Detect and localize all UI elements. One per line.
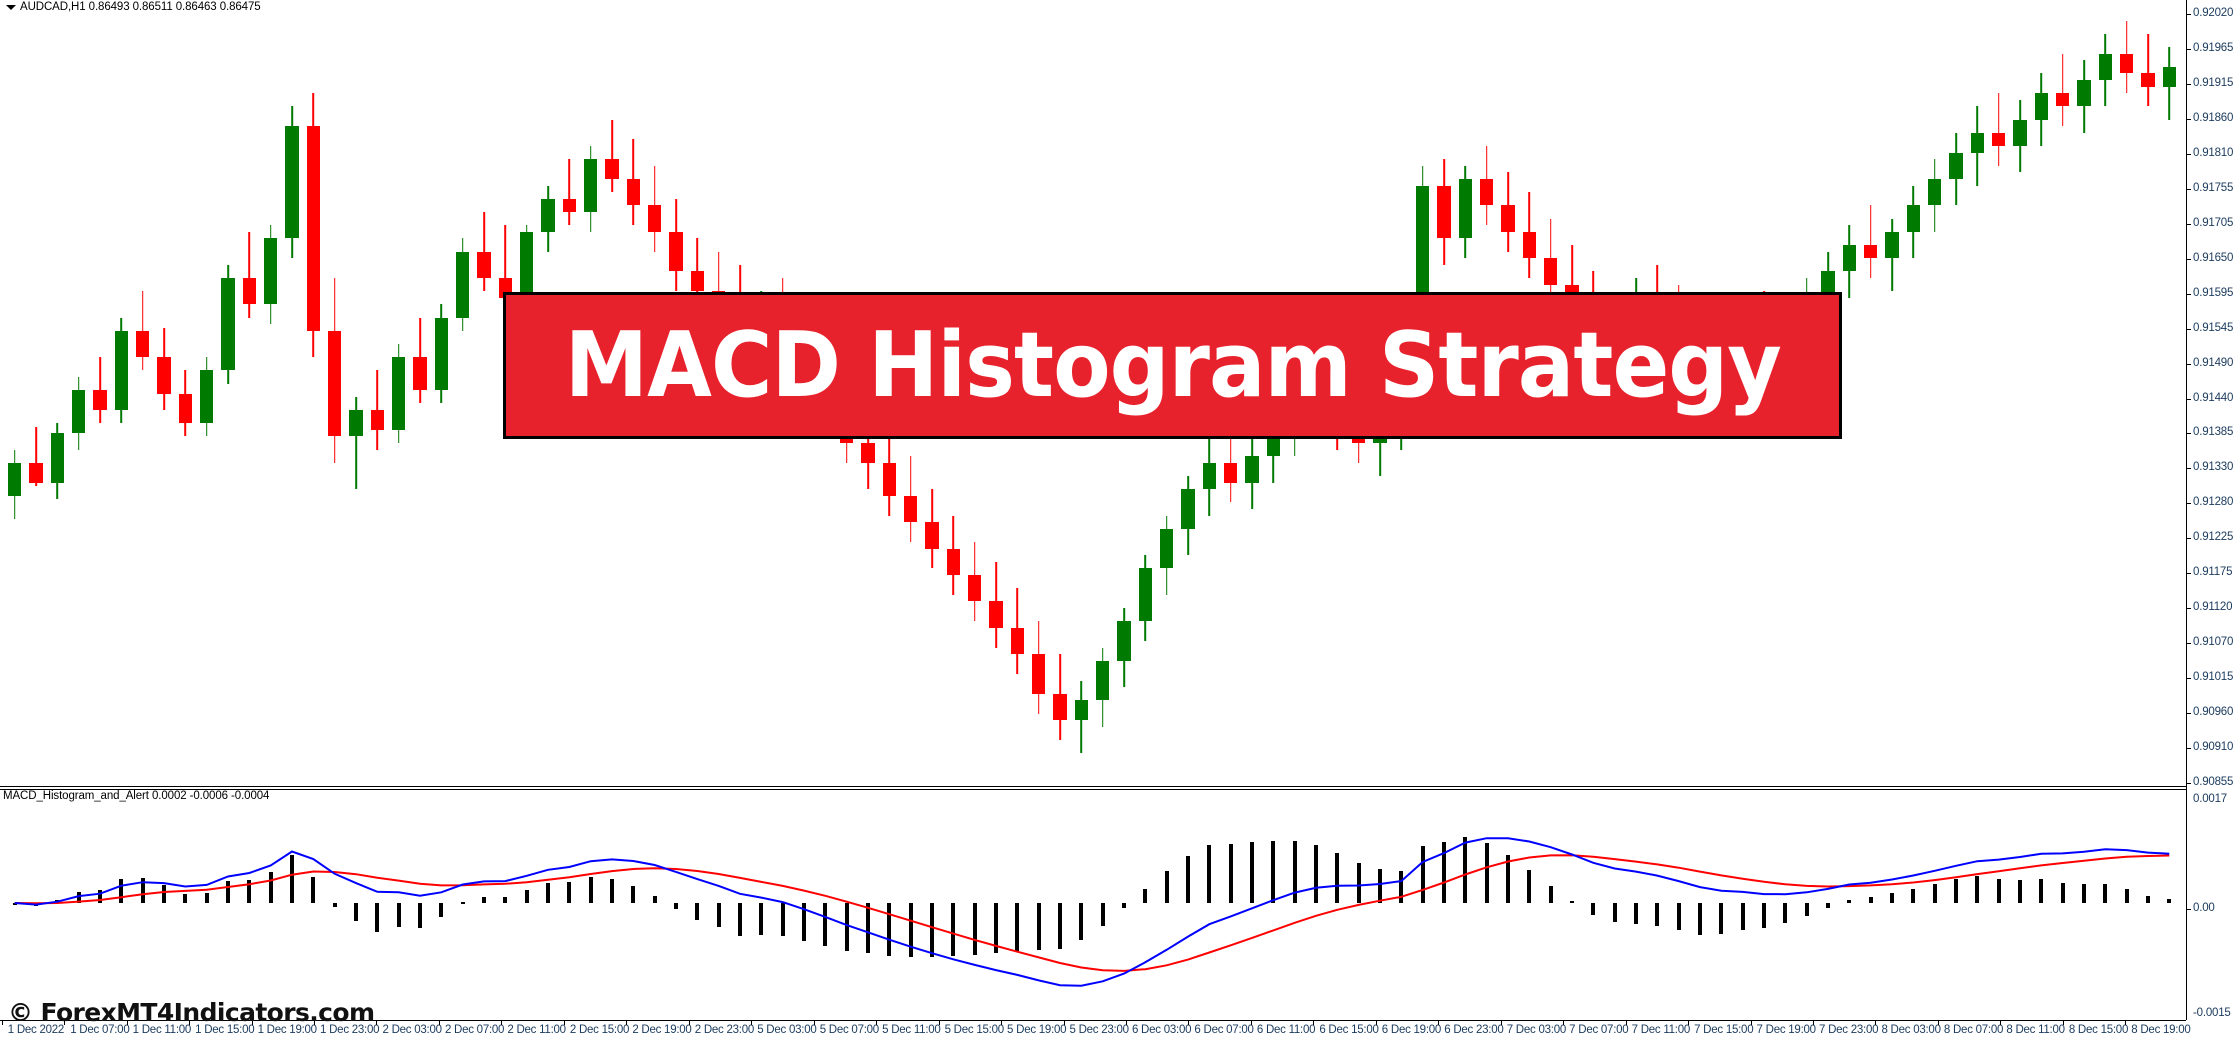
price-label: 0.91545	[2193, 323, 2233, 334]
candle-body	[371, 410, 384, 430]
price-tick	[2186, 573, 2191, 574]
time-tick	[127, 1021, 128, 1025]
time-tick	[1064, 1021, 1065, 1025]
candle-body	[605, 159, 618, 179]
time-label: 5 Dec 15:00	[945, 1024, 1004, 1036]
time-tick	[2125, 1021, 2126, 1025]
macd-axis-label: -0.0015	[2193, 1008, 2231, 1019]
price-tick	[2186, 678, 2191, 679]
time-label: 8 Dec 15:00	[2069, 1024, 2128, 1036]
time-tick	[252, 1021, 253, 1025]
time-label: 5 Dec 03:00	[757, 1024, 816, 1036]
panel-separator-top	[0, 786, 2186, 787]
time-label: 8 Dec 03:00	[1881, 1024, 1940, 1036]
candle-body	[264, 238, 277, 304]
time-label: 7 Dec 07:00	[1569, 1024, 1628, 1036]
candlestick	[435, 0, 448, 786]
time-tick	[751, 1021, 752, 1025]
candle-body	[435, 318, 448, 391]
time-tick	[1376, 1021, 1377, 1025]
candle-body	[1544, 258, 1557, 284]
macd-axis-label: 0.00	[2193, 903, 2215, 914]
candlestick	[72, 0, 85, 786]
time-tick	[1563, 1021, 1564, 1025]
price-label: 0.91120	[2193, 602, 2232, 613]
candle-body	[904, 496, 917, 522]
candle-wick	[2147, 34, 2149, 107]
price-tick	[2186, 433, 2191, 434]
candlestick	[1928, 0, 1941, 786]
time-label: 6 Dec 23:00	[1444, 1024, 1503, 1036]
candlestick	[1843, 0, 1856, 786]
candlestick	[179, 0, 192, 786]
candle-body	[1245, 456, 1258, 482]
candle-body	[1885, 232, 1898, 258]
candlestick	[243, 0, 256, 786]
price-tick	[2186, 224, 2191, 225]
macd-line	[15, 838, 2170, 986]
macd-axis-label: 0.0017	[2193, 794, 2227, 805]
candlestick	[2056, 0, 2069, 786]
time-tick	[1313, 1021, 1314, 1025]
candlestick	[413, 0, 426, 786]
price-label: 0.91175	[2193, 567, 2232, 578]
candlestick	[1885, 0, 1898, 786]
candle-body	[1480, 179, 1493, 205]
time-tick	[939, 1021, 940, 1025]
time-tick	[439, 1021, 440, 1025]
price-tick	[2186, 49, 2191, 50]
time-label: 2 Dec 03:00	[382, 1024, 441, 1036]
candle-body	[1843, 245, 1856, 271]
candle-body	[1011, 628, 1024, 654]
price-label: 0.91860	[2193, 113, 2233, 124]
time-label: 6 Dec 15:00	[1319, 1024, 1378, 1036]
time-tick	[2, 1021, 3, 1025]
candle-body	[221, 278, 234, 370]
candle-body	[1501, 205, 1514, 231]
time-label: 5 Dec 23:00	[1070, 1024, 1129, 1036]
candle-body	[2163, 67, 2176, 87]
price-label: 0.90910	[2193, 742, 2233, 753]
candle-body	[307, 126, 320, 331]
candle-body	[1139, 568, 1152, 621]
candlestick	[328, 0, 341, 786]
banner-title: MACD Histogram Strategy	[564, 318, 1780, 414]
candle-body	[925, 522, 938, 548]
time-tick	[1501, 1021, 1502, 1025]
candle-body	[477, 252, 490, 278]
price-label: 0.91965	[2193, 43, 2233, 54]
candlestick	[2013, 0, 2026, 786]
time-tick	[1626, 1021, 1627, 1025]
candlestick	[29, 0, 42, 786]
time-tick	[1438, 1021, 1439, 1025]
candle-body	[541, 199, 554, 232]
price-label: 0.91705	[2193, 218, 2233, 229]
price-label: 0.91810	[2193, 148, 2233, 159]
time-tick	[1813, 1021, 1814, 1025]
time-label: 2 Dec 19:00	[632, 1024, 691, 1036]
time-label: 5 Dec 07:00	[820, 1024, 879, 1036]
candle-body	[2120, 54, 2133, 74]
price-tick	[2186, 294, 2191, 295]
candlestick	[349, 0, 362, 786]
candlestick	[392, 0, 405, 786]
candle-body	[520, 232, 533, 298]
time-tick	[1688, 1021, 1689, 1025]
candle-body	[1864, 245, 1877, 258]
price-tick	[2186, 713, 2191, 714]
time-label: 8 Dec 07:00	[1944, 1024, 2003, 1036]
macd-line-series	[0, 798, 2186, 1020]
mt4-chart-window: AUDCAD,H1 0.86493 0.86511 0.86463 0.8647…	[0, 0, 2240, 1043]
candle-body	[2141, 73, 2154, 86]
candle-body	[1160, 529, 1173, 569]
candle-wick	[611, 120, 613, 193]
candle-body	[93, 390, 106, 410]
candle-body	[584, 159, 597, 212]
candle-body	[115, 331, 128, 410]
time-label: 1 Dec 15:00	[195, 1024, 254, 1036]
candle-body	[627, 179, 640, 205]
title-banner: MACD Histogram Strategy	[503, 292, 1842, 439]
price-label: 0.91490	[2193, 358, 2233, 369]
price-tick	[2186, 399, 2191, 400]
candle-body	[157, 357, 170, 393]
price-label: 0.91385	[2193, 427, 2233, 438]
candle-body	[136, 331, 149, 357]
candlestick	[2035, 0, 2048, 786]
price-tick	[2186, 503, 2191, 504]
candlestick	[115, 0, 128, 786]
time-tick	[626, 1021, 627, 1025]
candle-body	[691, 271, 704, 291]
time-label: 7 Dec 03:00	[1507, 1024, 1566, 1036]
time-label: 1 Dec 19:00	[258, 1024, 317, 1036]
price-tick	[2186, 468, 2191, 469]
candlestick	[1907, 0, 1920, 786]
time-tick	[376, 1021, 377, 1025]
time-tick	[1251, 1021, 1252, 1025]
candle-body	[2013, 120, 2026, 146]
candlestick	[8, 0, 21, 786]
candle-body	[861, 443, 874, 463]
time-label: 2 Dec 07:00	[445, 1024, 504, 1036]
candle-body	[1203, 463, 1216, 489]
candlestick	[307, 0, 320, 786]
price-tick	[2186, 329, 2191, 330]
candle-wick	[249, 232, 251, 318]
candlestick	[1992, 0, 2005, 786]
candle-body	[1181, 489, 1194, 529]
time-label: 5 Dec 11:00	[882, 1024, 940, 1036]
time-tick	[876, 1021, 877, 1025]
candle-body	[2035, 93, 2048, 119]
candle-body	[1053, 694, 1066, 720]
price-label: 0.92020	[2193, 8, 2233, 19]
candle-body	[243, 278, 256, 304]
candle-body	[456, 252, 469, 318]
time-label: 8 Dec 19:00	[2131, 1024, 2190, 1036]
time-tick	[1938, 1021, 1939, 1025]
candle-body	[989, 601, 1002, 627]
candle-body	[1096, 661, 1109, 701]
candle-body	[8, 463, 21, 496]
candle-body	[669, 232, 682, 272]
candle-body	[563, 199, 576, 212]
candlestick	[51, 0, 64, 786]
price-label: 0.90855	[2193, 777, 2233, 788]
candle-body	[2056, 93, 2069, 106]
candlestick	[285, 0, 298, 786]
candle-wick	[1998, 93, 2000, 166]
candle-body	[947, 549, 960, 575]
candlestick	[221, 0, 234, 786]
time-label: 7 Dec 15:00	[1694, 1024, 1753, 1036]
candle-body	[648, 205, 661, 231]
candle-body	[1459, 179, 1472, 238]
candle-body	[2077, 80, 2090, 106]
price-label: 0.91070	[2193, 637, 2233, 648]
candle-body	[883, 463, 896, 496]
price-label: 0.91650	[2193, 253, 2233, 264]
candle-body	[1907, 205, 1920, 231]
candle-body	[72, 390, 85, 433]
candlestick	[1949, 0, 1962, 786]
time-tick	[1751, 1021, 1752, 1025]
candlestick	[2077, 0, 2090, 786]
candle-body	[1437, 186, 1450, 239]
time-label: 6 Dec 07:00	[1194, 1024, 1253, 1036]
candle-body	[1992, 133, 2005, 146]
price-label: 0.91280	[2193, 497, 2233, 508]
candlestick	[2120, 0, 2133, 786]
price-tick	[2186, 14, 2191, 15]
candle-body	[413, 357, 426, 390]
time-label: 1 Dec 07:00	[70, 1024, 129, 1036]
candle-body	[1928, 179, 1941, 205]
candlestick	[1971, 0, 1984, 786]
candle-body	[1971, 133, 1984, 153]
candlestick	[2099, 0, 2112, 786]
candle-body	[1224, 463, 1237, 483]
time-tick	[2063, 1021, 2064, 1025]
time-axis[interactable]: 1 Dec 20221 Dec 07:001 Dec 11:001 Dec 15…	[0, 1021, 2240, 1043]
candlestick	[200, 0, 213, 786]
panel-separator-bottom	[0, 789, 2186, 790]
candle-body	[285, 126, 298, 238]
time-label: 7 Dec 11:00	[1632, 1024, 1690, 1036]
price-tick	[2186, 643, 2191, 644]
time-tick	[64, 1021, 65, 1025]
candlestick	[371, 0, 384, 786]
price-tick	[2186, 783, 2191, 784]
candlestick	[264, 0, 277, 786]
time-label: 2 Dec 23:00	[695, 1024, 754, 1036]
time-tick	[501, 1021, 502, 1025]
price-label: 0.91755	[2193, 183, 2233, 194]
candle-body	[349, 410, 362, 436]
candlestick	[456, 0, 469, 786]
time-tick	[2000, 1021, 2001, 1025]
candle-body	[179, 394, 192, 424]
candlestick	[477, 0, 490, 786]
macd-tick	[2186, 909, 2191, 910]
time-label: 2 Dec 11:00	[507, 1024, 565, 1036]
candle-body	[1075, 700, 1088, 720]
time-label: 6 Dec 19:00	[1382, 1024, 1441, 1036]
time-label: 8 Dec 11:00	[2006, 1024, 2064, 1036]
price-tick	[2186, 364, 2191, 365]
time-tick	[1001, 1021, 1002, 1025]
time-label: 2 Dec 15:00	[570, 1024, 629, 1036]
candle-wick	[569, 159, 571, 225]
time-tick	[564, 1021, 565, 1025]
price-label: 0.90960	[2193, 707, 2233, 718]
candle-body	[968, 575, 981, 601]
time-label: 6 Dec 11:00	[1257, 1024, 1315, 1036]
candle-body	[328, 331, 341, 437]
time-tick	[689, 1021, 690, 1025]
candlestick	[1864, 0, 1877, 786]
price-label: 0.91595	[2193, 288, 2233, 299]
time-label: 1 Dec 23:00	[320, 1024, 379, 1036]
time-tick	[814, 1021, 815, 1025]
candle-body	[1949, 153, 1962, 179]
candle-wick	[1870, 205, 1872, 278]
candle-body	[51, 433, 64, 483]
time-label: 1 Dec 2022	[8, 1024, 64, 1036]
candle-body	[2099, 54, 2112, 80]
candle-body	[29, 463, 42, 483]
candlestick	[93, 0, 106, 786]
time-tick	[1875, 1021, 1876, 1025]
price-tick	[2186, 748, 2191, 749]
price-tick	[2186, 119, 2191, 120]
time-label: 7 Dec 23:00	[1819, 1024, 1878, 1036]
time-label: 5 Dec 19:00	[1007, 1024, 1066, 1036]
candle-body	[200, 370, 213, 423]
price-label: 0.91225	[2193, 532, 2233, 543]
candle-body	[392, 357, 405, 430]
candle-wick	[2062, 54, 2064, 127]
candle-body	[1032, 654, 1045, 694]
price-tick	[2186, 608, 2191, 609]
macd-signal-line	[15, 855, 2170, 971]
time-tick	[1126, 1021, 1127, 1025]
time-label: 6 Dec 03:00	[1132, 1024, 1191, 1036]
price-label: 0.91015	[2193, 672, 2233, 683]
price-tick	[2186, 538, 2191, 539]
price-tick	[2186, 189, 2191, 190]
price-label: 0.91330	[2193, 462, 2233, 473]
time-tick	[189, 1021, 190, 1025]
candle-body	[1117, 621, 1130, 661]
price-tick	[2186, 259, 2191, 260]
candlestick	[2163, 0, 2176, 786]
price-tick	[2186, 84, 2191, 85]
time-label: 1 Dec 11:00	[133, 1024, 191, 1036]
price-tick	[2186, 154, 2191, 155]
candlestick	[157, 0, 170, 786]
price-label: 0.91440	[2193, 393, 2233, 404]
time-label: 7 Dec 19:00	[1757, 1024, 1816, 1036]
price-label: 0.91915	[2193, 78, 2233, 89]
time-tick	[314, 1021, 315, 1025]
time-tick	[1188, 1021, 1189, 1025]
candlestick	[2141, 0, 2154, 786]
candle-body	[1523, 232, 1536, 258]
candlestick	[136, 0, 149, 786]
